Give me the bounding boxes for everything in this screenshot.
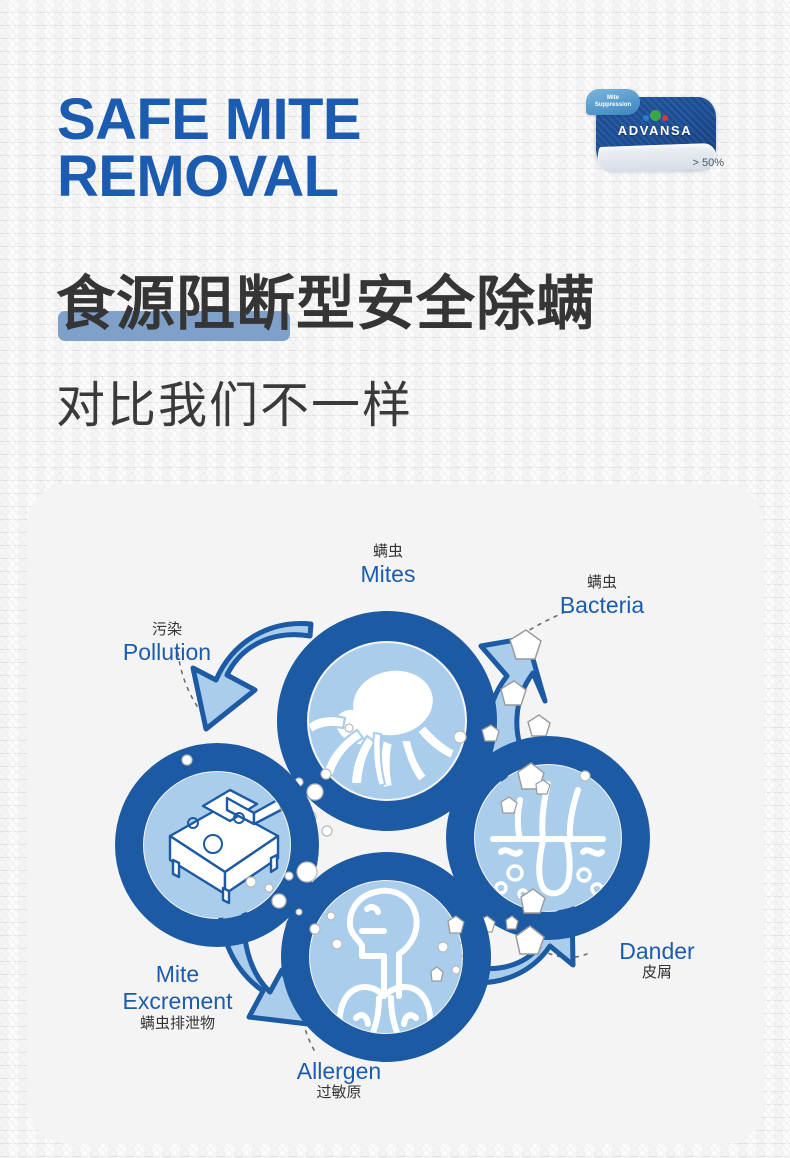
label-mite-excrement-english-line-1: Mite [90,961,265,988]
label-pollution: 污染 Pollution [92,621,242,666]
label-pollution-chinese: 污染 [92,621,242,638]
label-pollution-english: Pollution [92,639,242,665]
label-mite-excrement: Mite Excrement 螨虫排泄物 [90,961,265,1033]
logo-dot-red-icon [662,115,668,121]
node-allergen [295,866,477,1049]
page-title-line-2: REMOVAL [57,149,487,206]
label-bacteria: 螨虫 Bacteria [527,574,677,619]
label-dander-chinese: 皮屑 [582,964,732,981]
brand-name: ADVANSA [580,123,730,138]
chinese-subheadline: 对比我们不一样 [56,366,413,437]
logo-dot-blue-icon [643,115,649,121]
product-pillow-image: ADVANSA Mite Suppression > 50% [580,83,730,183]
label-allergen-chinese: 过敏原 [264,1084,414,1101]
page-title-line-1: SAFE MITE [57,92,487,149]
badge-line-1: Mite [607,95,619,101]
logo-dot-green-icon [650,110,661,121]
label-mites-chinese: 螨虫 [318,543,458,560]
label-mites: 螨虫 Mites [318,543,458,588]
badge-line-2: Suppression [595,102,631,108]
label-mite-excrement-chinese: 螨虫排泄物 [90,1015,265,1032]
label-mites-english: Mites [318,561,458,587]
label-dander-english: Dander [582,938,732,964]
label-allergen-english: Allergen [264,1058,414,1084]
chinese-headline: 食源阻断型安全除螨 [56,256,596,341]
label-mite-excrement-english-line-2: Excrement [90,988,265,1015]
label-dander: Dander 皮屑 [582,938,732,982]
label-allergen: Allergen 过敏原 [264,1058,414,1102]
label-bacteria-english: Bacteria [527,592,677,618]
label-bacteria-chinese: 螨虫 [527,574,677,591]
page-title: SAFE MITE REMOVAL [57,92,487,206]
mite-suppression-badge: Mite Suppression [586,89,640,115]
percent-label: > 50% [693,157,725,169]
header-section: SAFE MITE REMOVAL ADVANSA Mite Suppressi… [0,0,790,470]
